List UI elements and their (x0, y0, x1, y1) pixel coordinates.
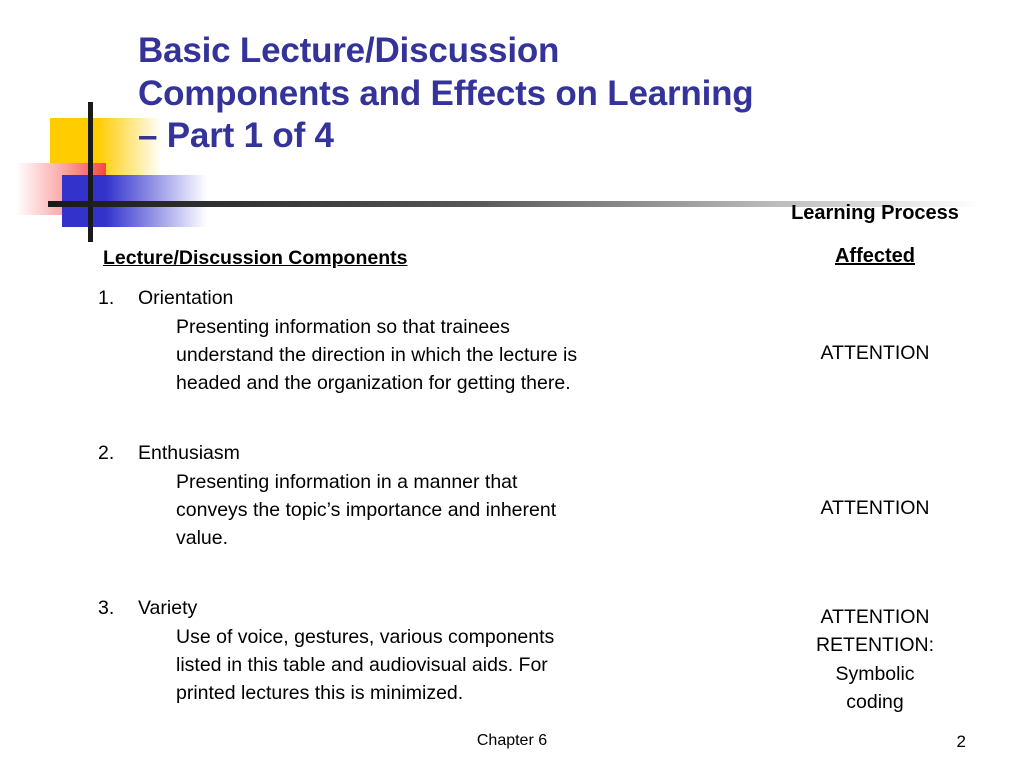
left-column-header: Lecture/Discussion Components (103, 247, 407, 270)
component-cell: 2.Enthusiasm Presenting information in a… (98, 442, 718, 552)
vertical-rule-decoration (88, 102, 93, 242)
learning-process-effect-main: ATTENTION RETENTION: (816, 606, 934, 656)
learning-process-effect: ATTENTION (726, 339, 1024, 367)
component-description: Use of voice, gestures, various componen… (176, 624, 718, 707)
component-name: Variety (138, 597, 197, 619)
learning-process-effect-sub: Symbolic coding (726, 660, 1024, 717)
component-number: 1. (98, 287, 138, 310)
right-column-header-line-2: Affected (726, 246, 1024, 266)
component-number: 3. (98, 597, 138, 620)
slide-title: Basic Lecture/Discussion Components and … (138, 30, 1000, 158)
component-name: Orientation (138, 287, 233, 309)
footer-page-number: 2 (957, 732, 966, 752)
component-name: Enthusiasm (138, 442, 240, 464)
component-number: 2. (98, 442, 138, 465)
component-heading: 1.Orientation (98, 287, 718, 310)
right-column-header: Learning Process Affected (726, 203, 1024, 266)
component-heading: 3.Variety (98, 597, 718, 620)
slide-title-line-1: Basic Lecture/Discussion (138, 30, 1000, 73)
blue-square-decoration (62, 175, 207, 227)
component-cell: 3.Variety Use of voice, gestures, variou… (98, 597, 718, 707)
red-square-decoration (16, 163, 106, 215)
slide: Basic Lecture/Discussion Components and … (0, 0, 1024, 768)
component-cell: 1.Orientation Presenting information so … (98, 287, 718, 397)
component-description: Presenting information in a manner that … (176, 469, 718, 552)
learning-process-effect: ATTENTION (726, 494, 1024, 522)
right-column-header-line-1: Learning Process (726, 203, 1024, 223)
slide-title-line-3: – Part 1 of 4 (138, 115, 1000, 158)
component-heading: 2.Enthusiasm (98, 442, 718, 465)
learning-process-effect: ATTENTION RETENTION:Symbolic coding (726, 603, 1024, 716)
footer-chapter-label: Chapter 6 (0, 732, 1024, 750)
component-description: Presenting information so that trainees … (176, 314, 718, 397)
slide-title-line-2: Components and Effects on Learning (138, 73, 1000, 116)
